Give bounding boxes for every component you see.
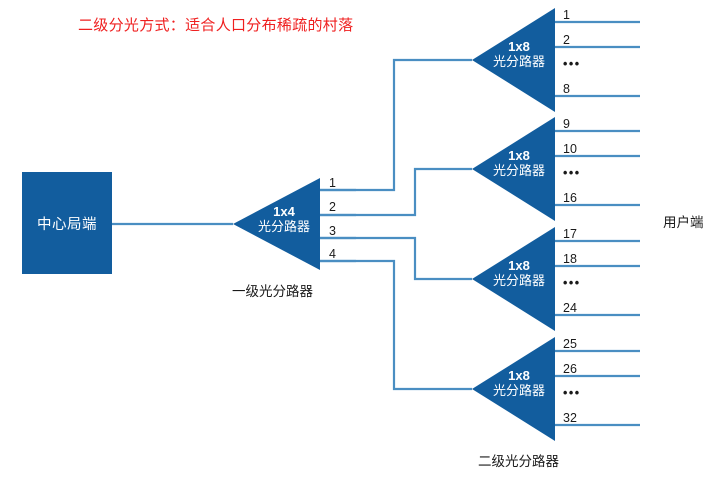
stage1-port-label-2: 2: [329, 200, 336, 214]
stage2-a-port-ellipsis: •••: [563, 57, 581, 71]
stage1-caption: 一级光分路器: [232, 280, 313, 300]
stage1-port-label-1: 1: [329, 176, 336, 190]
splitter-triangle: [472, 8, 555, 112]
stage2-d-port-label-last: 32: [563, 411, 577, 425]
splitter-triangle: [233, 178, 320, 270]
stage2-d-port-label-first: 25: [563, 337, 577, 351]
stage2-d-port-label-second: 26: [563, 362, 577, 376]
splitter-stage2-d: 1x8 光分路器: [472, 337, 555, 441]
splitter-stage2-c: 1x8 光分路器: [472, 227, 555, 331]
page-title: 二级分光方式：适合人口分布稀疏的村落: [78, 14, 353, 35]
wire-p3-to-s3: [320, 238, 472, 279]
stage2-c-port-ellipsis: •••: [563, 276, 581, 290]
stage2-b-port-label-first: 9: [563, 117, 570, 131]
stage2-a-port-label-first: 1: [563, 8, 570, 22]
stage2-c-port-label-first: 17: [563, 227, 577, 241]
stage1-port-label-4: 4: [329, 247, 336, 261]
splitter-triangle: [472, 227, 555, 331]
stage1-port-label-3: 3: [329, 224, 336, 238]
stage2-b-port-label-second: 10: [563, 142, 577, 156]
central-office-label: 中心局端: [37, 213, 97, 234]
diagram-canvas: 二级分光方式：适合人口分布稀疏的村落 中心局端 1x4 光分路器 1 2 3 4…: [0, 0, 727, 481]
stage2-c-port-label-second: 18: [563, 252, 577, 266]
splitter-triangle: [472, 337, 555, 441]
stage2-a-port-label-last: 8: [563, 82, 570, 96]
splitter-triangle: [472, 117, 555, 221]
splitter-stage2-a: 1x8 光分路器: [472, 8, 555, 112]
splitter-stage2-b: 1x8 光分路器: [472, 117, 555, 221]
stage2-d-port-ellipsis: •••: [563, 386, 581, 400]
stage2-b-port-ellipsis: •••: [563, 166, 581, 180]
stage2-b-port-label-last: 16: [563, 191, 577, 205]
user-side-label: 用户端: [663, 211, 704, 231]
wire-p4-to-s4: [320, 261, 472, 389]
wire-p1-to-s1: [320, 60, 472, 190]
splitter-stage1-1x4: 1x4 光分路器: [233, 178, 320, 270]
stage2-caption: 二级光分路器: [478, 450, 559, 470]
stage2-c-port-label-last: 24: [563, 301, 577, 315]
central-office-box: 中心局端: [22, 172, 112, 274]
wire-p2-to-s2: [320, 169, 472, 215]
stage2-a-port-label-second: 2: [563, 33, 570, 47]
